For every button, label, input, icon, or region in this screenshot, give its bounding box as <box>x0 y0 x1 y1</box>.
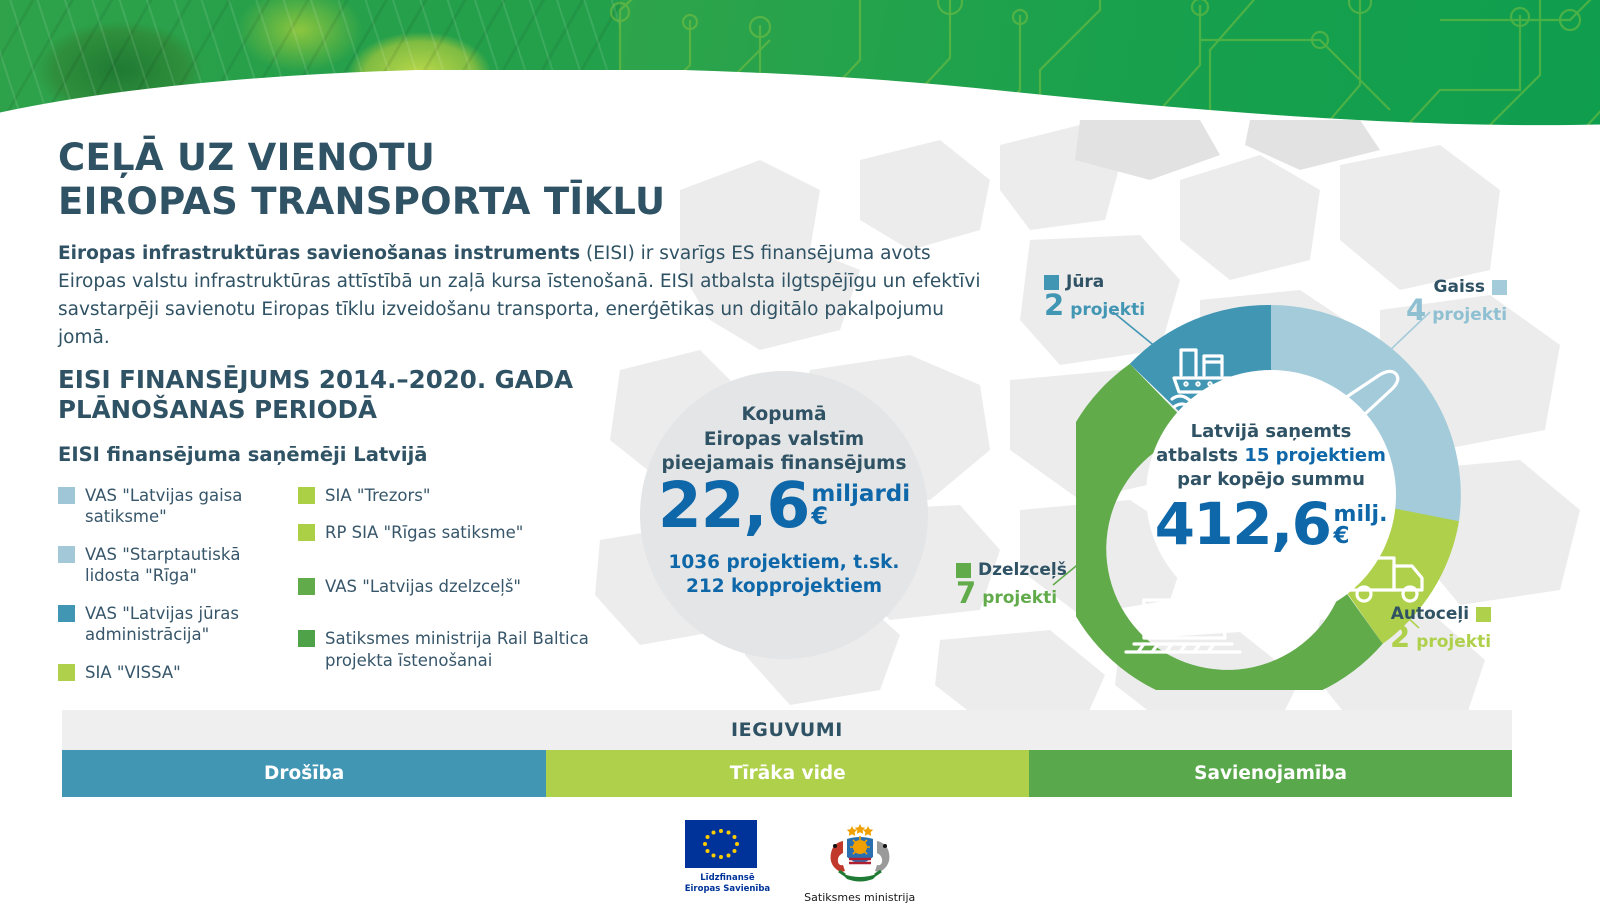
legend-swatch-icon <box>58 605 75 622</box>
list-item: VAS "Latvijas dzelzceļš" <box>298 576 628 597</box>
donut-projects-highlight: 15 projektiem <box>1244 445 1386 466</box>
benefit-bar-drosiba[interactable]: Drošība <box>62 750 546 797</box>
legend-swatch-icon <box>58 664 75 681</box>
legend-label: Satiksmes ministrija Rail Baltica projek… <box>325 628 628 671</box>
donut-count-jura: 2 <box>1044 291 1064 320</box>
donut-label-autoceli: Autoceļi 2 projekti <box>1390 604 1491 652</box>
subtitle-line-2: PLĀNOŠANAS PERIODĀ <box>58 395 678 425</box>
eu-logo-caption-line-1: Līdzfinansē <box>685 873 770 884</box>
donut-currency-symbol: € <box>1334 525 1388 548</box>
benefit-bar-savienojamiba[interactable]: Savienojamība <box>1029 750 1512 797</box>
legend-swatch-icon <box>298 578 315 595</box>
eu-amount-value: 22,6 <box>658 477 809 535</box>
title-line-2: EIROPAS TRANSPORTA TĪKLU <box>58 180 818 224</box>
donut-unit-autoceli: projekti <box>1416 632 1491 652</box>
list-item: Satiksmes ministrija Rail Baltica projek… <box>298 628 628 671</box>
benefits-heading: IEGUVUMI <box>731 719 843 741</box>
donut-caption-line-1: Latvijā saņemts <box>1146 420 1396 444</box>
eu-cofinancing-logo: Līdzfinansē Eiropas Savienība <box>685 820 770 896</box>
donut-amount-unit: milj. € <box>1334 504 1388 548</box>
header-banner <box>0 0 1600 140</box>
donut-label-dzelzcels: Dzelzceļš 7 projekti <box>956 560 1067 608</box>
list-item: SIA "Trezors" <box>298 485 628 506</box>
donut-center-panel: Latvijā saņemts atbalsts 15 projektiem p… <box>1146 370 1396 620</box>
legend-swatch-icon <box>298 487 315 504</box>
donut-unit-gaiss: projekti <box>1432 305 1507 325</box>
eu-logo-caption-line-2: Eiropas Savienība <box>685 884 770 895</box>
donut-label-gaiss-name: Gaiss <box>1434 277 1486 297</box>
eu-total-funding-circle: Kopumā Eiropas valstīm pieejamais finans… <box>640 371 928 659</box>
donut-unit-dzelzcels: projekti <box>982 588 1057 608</box>
eu-circle-caption: Kopumā Eiropas valstīm pieejamais finans… <box>640 403 928 477</box>
donut-label-autoceli-count: 2 projekti <box>1390 623 1491 652</box>
legend-label: VAS "Latvijas gaisa satiksme" <box>85 485 298 528</box>
legend-swatch-icon <box>58 487 75 504</box>
list-item: RP SIA "Rīgas satiksme" <box>298 522 628 543</box>
subtitle-line-1: EISI FINANSĒJUMS 2014.–2020. GADA <box>58 365 678 395</box>
intro-bold-lead: Eiropas infrastruktūras savienošanas ins… <box>58 243 580 264</box>
ministry-caption: Satiksmes ministrija <box>804 891 915 904</box>
eu-caption-line-2: Eiropas valstīm <box>640 428 928 453</box>
footer-logos: Līdzfinansē Eiropas Savienība <box>0 815 1600 923</box>
legend-column-right: SIA "Trezors" RP SIA "Rīgas satiksme" VA… <box>298 485 628 699</box>
section-subtitle: EISI FINANSĒJUMS 2014.–2020. GADA PLĀNOŠ… <box>58 365 678 426</box>
list-item: SIA "VISSA" <box>58 662 298 683</box>
latvia-coat-of-arms-icon <box>819 823 901 883</box>
benefits-heading-band: IEGUVUMI <box>62 710 1512 750</box>
donut-label-gaiss-count: 4 projekti <box>1406 296 1507 325</box>
donut-center-caption: Latvijā saņemts atbalsts 15 projektiem p… <box>1146 420 1396 492</box>
eu-projects-footnote: 1036 projektiem, t.sk. 212 kopprojektiem <box>640 551 928 600</box>
donut-label-jura-name: Jūra <box>1066 272 1104 292</box>
benefit-bar-tiraka-vide[interactable]: Tīrāka vide <box>546 750 1029 797</box>
legend-title: EISI finansējuma saņēmēji Latvijā <box>58 443 678 466</box>
title-line-1: CEĻĀ UZ VIENOTU <box>58 136 818 180</box>
donut-count-gaiss: 4 <box>1406 296 1426 325</box>
donut-amount-group: 412,6 milj. € <box>1146 498 1396 551</box>
donut-swatch-gaiss-icon <box>1492 280 1507 295</box>
benefit-label-savienojamiba: Savienojamība <box>1194 763 1347 784</box>
beneficiaries-legend: VAS "Latvijas gaisa satiksme" VAS "Starp… <box>58 485 658 699</box>
legend-swatch-icon <box>298 630 315 647</box>
donut-caption-line-2: atbalsts 15 projektiem <box>1146 444 1396 468</box>
list-item: VAS "Latvijas jūras administrācija" <box>58 603 298 646</box>
donut-swatch-autoceli-icon <box>1476 607 1491 622</box>
eu-foot-line-2: 212 kopprojektiem <box>640 575 928 599</box>
page-title: CEĻĀ UZ VIENOTU EIROPAS TRANSPORTA TĪKLU <box>58 136 818 225</box>
eu-caption-line-1: Kopumā <box>640 403 928 428</box>
legend-column-left: VAS "Latvijas gaisa satiksme" VAS "Starp… <box>58 485 298 699</box>
eu-foot-line-1: 1036 projektiem, t.sk. <box>640 551 928 575</box>
donut-caption-line-3: par kopējo summu <box>1146 468 1396 492</box>
eu-logo-caption: Līdzfinansē Eiropas Savienība <box>685 873 770 896</box>
donut-count-dzelzcels: 7 <box>956 579 976 608</box>
eu-amount-group: 22,6 miljardi € <box>640 477 928 535</box>
donut-label-dzelzcels-count: 7 projekti <box>956 579 1067 608</box>
legend-label: VAS "Starptautiskā lidosta "Rīga" <box>85 544 298 587</box>
legend-label: VAS "Latvijas dzelzceļš" <box>325 576 521 597</box>
donut-amount-value: 412,6 <box>1155 498 1331 551</box>
donut-label-jura: Jūra 2 projekti <box>1044 272 1145 320</box>
benefit-label-drosiba: Drošība <box>264 763 344 784</box>
intro-paragraph: Eiropas infrastruktūras savienošanas ins… <box>58 240 983 352</box>
donut-unit-jura: projekti <box>1070 300 1145 320</box>
legend-label: SIA "Trezors" <box>325 485 430 506</box>
donut-count-autoceli: 2 <box>1390 623 1410 652</box>
eu-amount-unit: miljardi € <box>811 483 910 528</box>
legend-swatch-icon <box>58 546 75 563</box>
legend-label: VAS "Latvijas jūras administrācija" <box>85 603 298 646</box>
legend-label: RP SIA "Rīgas satiksme" <box>325 522 523 543</box>
eu-currency-symbol: € <box>811 504 910 528</box>
benefits-bars: Drošība Tīrāka vide Savienojamība <box>62 750 1512 797</box>
list-item: VAS "Starptautiskā lidosta "Rīga" <box>58 544 298 587</box>
benefit-label-tiraka-vide: Tīrāka vide <box>730 763 846 784</box>
donut-label-gaiss: Gaiss 4 projekti <box>1406 277 1507 325</box>
legend-label: SIA "VISSA" <box>85 662 181 683</box>
eu-stars-icon <box>685 820 757 868</box>
legend-swatch-icon <box>298 524 315 541</box>
donut-caption-line-2-pre: atbalsts <box>1156 445 1244 466</box>
list-item: VAS "Latvijas gaisa satiksme" <box>58 485 298 528</box>
donut-label-jura-count: 2 projekti <box>1044 291 1145 320</box>
eu-flag-icon <box>685 820 757 868</box>
latvia-ministry-logo: Satiksmes ministrija <box>804 820 915 904</box>
donut-label-dzelzcels-name: Dzelzceļš <box>978 560 1067 580</box>
